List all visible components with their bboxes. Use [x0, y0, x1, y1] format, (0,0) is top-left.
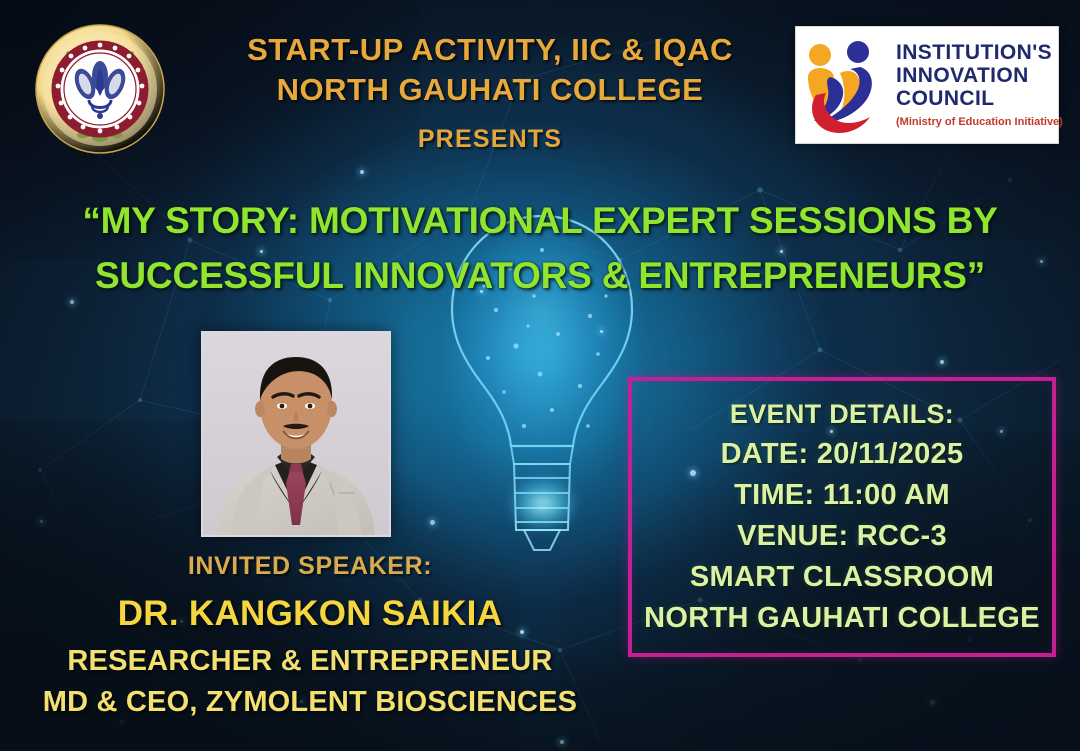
event-details-box: EVENT DETAILS: DATE: 20/11/2025 TIME: 11… [628, 377, 1056, 657]
speaker-company: MD & CEO, ZYMOLENT BIOSCIENCES [0, 686, 620, 719]
event-date: DATE: 20/11/2025 [721, 440, 964, 469]
event-institution: NORTH GAUHATI COLLEGE [644, 604, 1040, 633]
organizer-line-1: START-UP ACTIVITY, IIC & IQAC [175, 30, 805, 70]
organizer-line-2: NORTH GAUHATI COLLEGE [175, 70, 805, 110]
iic-subtitle: (Ministry of Education Initiative) [896, 116, 1063, 128]
iic-line-3: COUNCIL [896, 88, 1063, 111]
presents-label: PRESENTS [175, 125, 805, 154]
speaker-photo [201, 331, 391, 537]
invited-speaker-label: INVITED SPEAKER: [0, 552, 620, 581]
event-room: SMART CLASSROOM [690, 563, 994, 592]
speaker-role: RESEARCHER & ENTREPRENEUR [0, 645, 620, 678]
event-title-line-2: SUCCESSFUL INNOVATORS & ENTREPRENEURS” [12, 249, 1068, 304]
iic-logo: INSTITUTION'S INNOVATION COUNCIL (Minist… [795, 26, 1059, 144]
organizer-header: START-UP ACTIVITY, IIC & IQAC NORTH GAUH… [175, 30, 805, 154]
event-poster: START-UP ACTIVITY, IIC & IQAC NORTH GAUH… [0, 0, 1080, 751]
iic-line-2: INNOVATION [896, 65, 1063, 88]
event-title-line-1: “MY STORY: MOTIVATIONAL EXPERT SESSIONS … [12, 194, 1068, 249]
speaker-info: INVITED SPEAKER: DR. KANGKON SAIKIA RESE… [0, 552, 620, 719]
iic-figures-icon [800, 33, 892, 137]
speaker-name: DR. KANGKON SAIKIA [0, 594, 620, 634]
iic-line-1: INSTITUTION'S [896, 42, 1063, 65]
north-gauhati-college-seal-logo [33, 22, 167, 156]
event-details-heading: EVENT DETAILS: [730, 401, 954, 428]
event-time: TIME: 11:00 AM [734, 481, 950, 510]
event-venue: VENUE: RCC-3 [737, 522, 947, 551]
event-title: “MY STORY: MOTIVATIONAL EXPERT SESSIONS … [12, 194, 1068, 304]
